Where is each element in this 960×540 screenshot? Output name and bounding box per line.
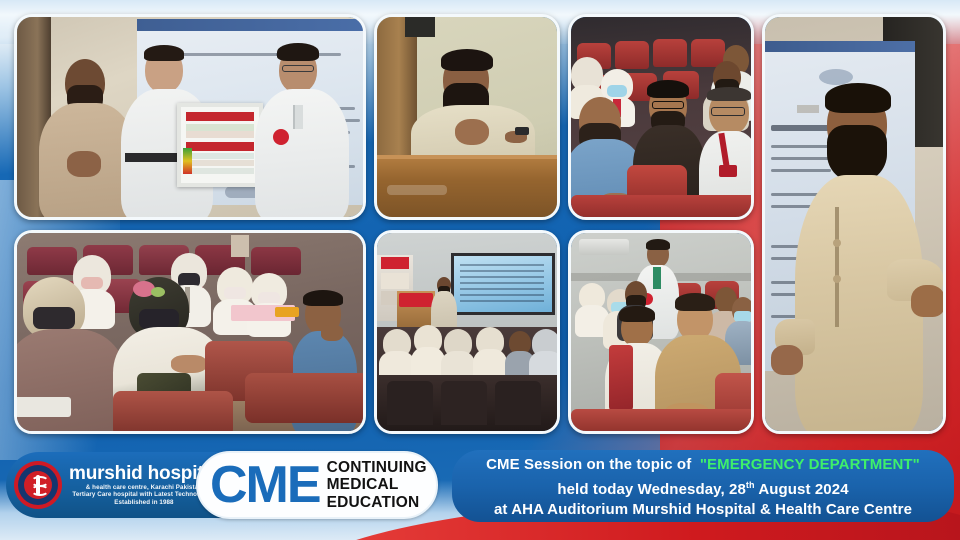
hospital-tagline-3: Established in 1988	[69, 499, 219, 507]
event-date-ordinal: th	[746, 480, 755, 490]
event-date-pre: held today Wednesday, 28	[557, 481, 746, 498]
photo-male-audience	[568, 14, 754, 220]
cme-word-continuing: CONTINUING	[327, 459, 427, 477]
event-topic-prefix: CME Session on the topic of	[486, 456, 691, 473]
event-line-topic: CME Session on the topic of "EMERGENCY D…	[486, 455, 920, 475]
cme-word-education: EDUCATION	[327, 494, 427, 512]
cme-logo-badge: CME CONTINUING MEDICAL EDUCATION	[196, 451, 438, 519]
photo-triage-speaker	[762, 14, 946, 434]
event-line-date: held today Wednesday, 28th August 2024	[557, 475, 848, 500]
event-info-pill: CME Session on the topic of "EMERGENCY D…	[452, 450, 954, 522]
photo-presentation-award	[14, 14, 366, 220]
cme-word-medical: MEDICAL	[327, 476, 427, 494]
cme-acronym: CME	[210, 459, 320, 511]
photo-hall-wide	[374, 230, 560, 434]
photo-speaker-podium	[374, 14, 560, 220]
event-topic-title: "EMERGENCY DEPARTMENT"	[700, 456, 920, 473]
photo-attendees-front-row	[568, 230, 754, 434]
event-date-post: August 2024	[755, 481, 849, 498]
event-line-venue: at AHA Auditorium Murshid Hospital & Hea…	[494, 500, 912, 520]
murshid-hospital-emblem-icon	[14, 461, 62, 509]
poster-canvas: murshid hospital & health care centre, K…	[0, 0, 960, 540]
footer-bar: murshid hospital & health care centre, K…	[0, 444, 960, 540]
photo-female-audience	[14, 230, 366, 434]
